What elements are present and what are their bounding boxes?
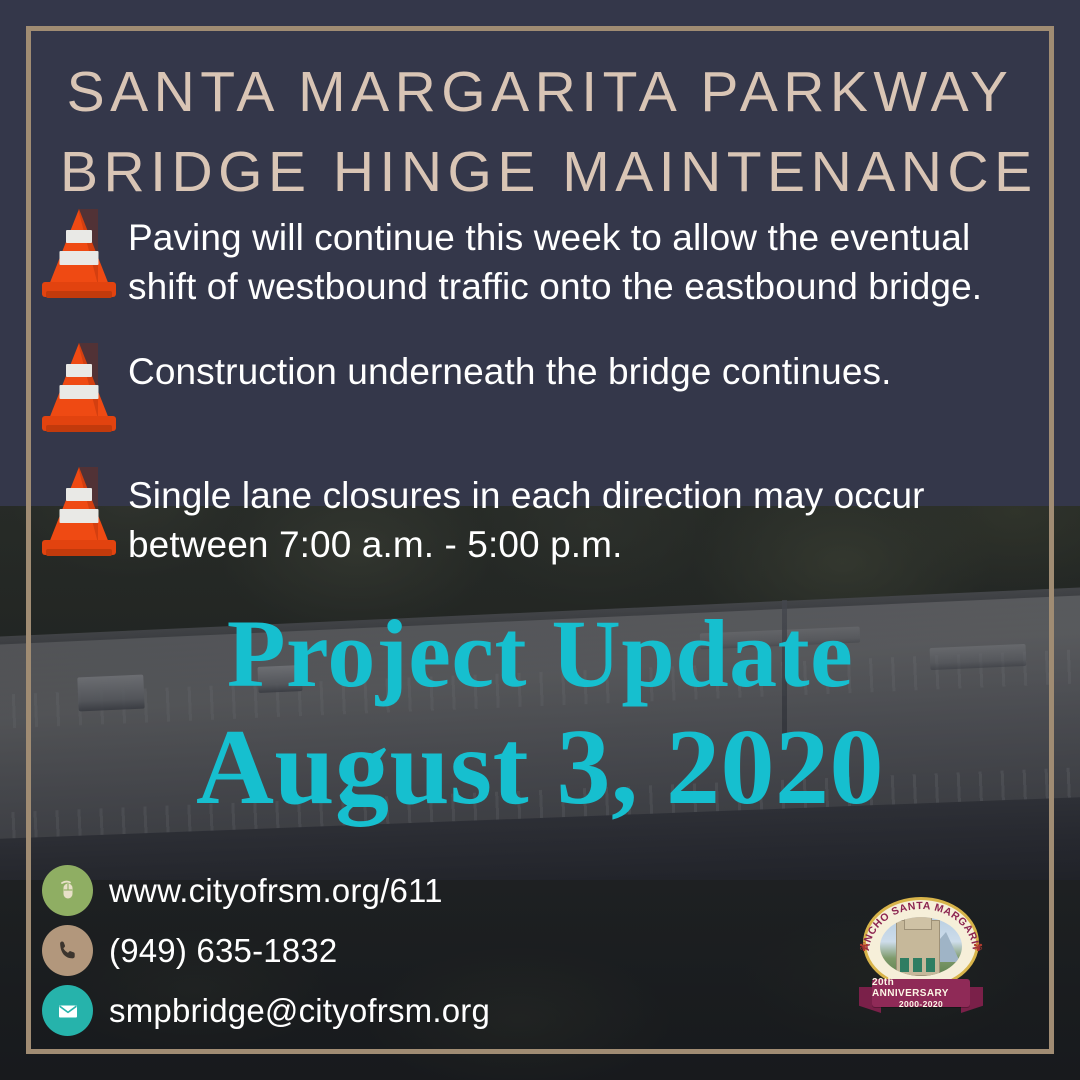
headline-line-2: August 3, 2020 bbox=[0, 710, 1080, 826]
seal-ornament: ✾ bbox=[972, 941, 984, 953]
poster-content: SANTA MARGARITA PARKWAY BRIDGE HINGE MAI… bbox=[0, 0, 1080, 1080]
contact-list: www.cityofrsm.org/611 (949) 635-1832 bbox=[42, 862, 490, 1042]
website-text: www.cityofrsm.org/611 bbox=[109, 873, 443, 909]
city-seal-logo: RANCHO SANTA MARGARITA ✾ ✾ 20th ANNIVERS… bbox=[855, 895, 987, 1020]
envelope-icon bbox=[42, 985, 93, 1036]
announcement-poster: SANTA MARGARITA PARKWAY BRIDGE HINGE MAI… bbox=[0, 0, 1080, 1080]
bullet-text: Single lane closures in each direction m… bbox=[128, 463, 1036, 569]
phone-icon bbox=[42, 925, 93, 976]
seal-banner-body: 20th ANNIVERSARY 2000-2020 bbox=[872, 979, 970, 1007]
phone-text: (949) 635-1832 bbox=[109, 933, 337, 969]
traffic-cone-icon bbox=[36, 463, 122, 559]
seal-window bbox=[900, 958, 909, 972]
contact-email[interactable]: smpbridge@cityofrsm.org bbox=[42, 982, 490, 1039]
headline-line-1: Project Update bbox=[0, 598, 1080, 710]
contact-website[interactable]: www.cityofrsm.org/611 bbox=[42, 862, 490, 919]
seal-ornament: ✾ bbox=[858, 941, 870, 953]
bullet-item: Single lane closures in each direction m… bbox=[36, 463, 1036, 569]
traffic-cone-icon bbox=[36, 339, 122, 435]
title-line-2: BRIDGE HINGE MAINTENANCE bbox=[60, 132, 1020, 212]
contact-phone[interactable]: (949) 635-1832 bbox=[42, 922, 490, 979]
bullet-item: Construction underneath the bridge conti… bbox=[36, 339, 1036, 435]
seal-window bbox=[926, 958, 935, 972]
seal-illustration bbox=[880, 917, 962, 976]
mouse-icon bbox=[42, 865, 93, 916]
email-text: smpbridge@cityofrsm.org bbox=[109, 993, 490, 1029]
seal-oval bbox=[863, 897, 979, 989]
traffic-cone-icon bbox=[36, 205, 122, 301]
title-line-1: SANTA MARGARITA PARKWAY bbox=[60, 52, 1020, 132]
seal-window bbox=[913, 958, 922, 972]
page-title: SANTA MARGARITA PARKWAY BRIDGE HINGE MAI… bbox=[60, 52, 1020, 212]
seal-bell-tower bbox=[904, 917, 932, 930]
seal-banner-line-1: 20th ANNIVERSARY bbox=[872, 977, 970, 999]
seal-anniversary-banner: 20th ANNIVERSARY 2000-2020 bbox=[859, 979, 983, 1015]
bullet-text: Paving will continue this week to allow … bbox=[128, 205, 1036, 311]
bullet-item: Paving will continue this week to allow … bbox=[36, 205, 1036, 311]
bullet-list: Paving will continue this week to allow … bbox=[36, 205, 1036, 585]
seal-banner-line-2: 2000-2020 bbox=[899, 999, 943, 1009]
bullet-text: Construction underneath the bridge conti… bbox=[128, 339, 892, 396]
project-update-headline: Project Update August 3, 2020 bbox=[0, 598, 1080, 826]
